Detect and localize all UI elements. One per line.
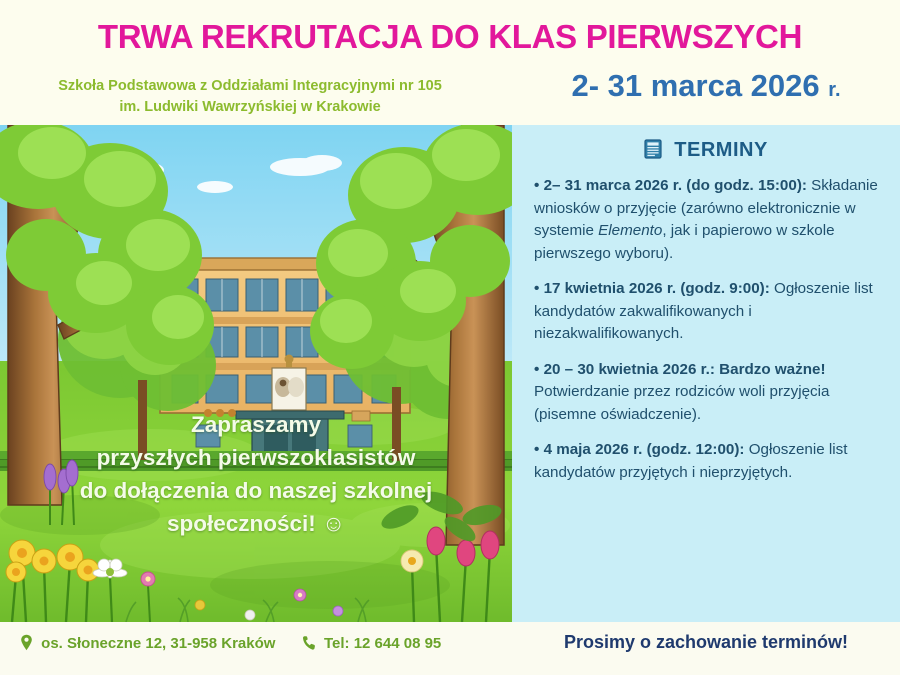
term-date: 2– 31 marca 2026 r. (do godz. 15:00): (544, 177, 807, 194)
document-list-icon (644, 139, 662, 165)
terms-panel: TERMINY • 2– 31 marca 2026 r. (do godz. … (512, 125, 900, 622)
term-bullet: • (534, 361, 539, 378)
recruitment-poster: TRWA REKRUTACJA DO KLAS PIERWSZYCH Szkoł… (0, 0, 900, 675)
term-item: • 4 maja 2026 r. (godz. 12:00): Ogłoszen… (534, 439, 892, 484)
term-item: • 17 kwietnia 2026 r. (godz. 9:00): Ogło… (534, 278, 892, 346)
school-illustration-graphic (0, 125, 512, 622)
terms-list: • 2– 31 marca 2026 r. (do godz. 15:00): … (534, 175, 892, 497)
term-date: 20 – 30 kwietnia 2026 r.: Bardzo ważne! (544, 361, 826, 378)
poster-footer: os. Słoneczne 12, 31-958 Kraków Tel: 12 … (0, 622, 900, 675)
term-item: • 2– 31 marca 2026 r. (do godz. 15:00): … (534, 175, 892, 265)
recruitment-date-range: 2- 31 marca 2026 r. (512, 68, 900, 104)
map-pin-icon (20, 634, 33, 655)
term-description-part-1: Potwierdzanie przez rodziców woli przyję… (534, 383, 829, 423)
terms-heading-label: TERMINY (674, 139, 768, 161)
term-bullet: • (534, 177, 539, 194)
address-text: os. Słoneczne 12, 31-958 Kraków (41, 635, 275, 652)
school-name-line-1: Szkoła Podstawowa z Oddziałami Integracy… (10, 76, 490, 97)
school-name-line-2: im. Ludwiki Wawrzyńskiej w Krakowie (10, 97, 490, 118)
term-description-emphasis: Elemento (598, 222, 662, 239)
phone-text: Tel: 12 644 08 95 (324, 635, 441, 652)
poster-header: TRWA REKRUTACJA DO KLAS PIERWSZYCH Szkoł… (0, 0, 900, 125)
terms-heading: TERMINY (512, 139, 900, 165)
school-name: Szkoła Podstawowa z Oddziałami Integracy… (10, 76, 490, 118)
term-bullet: • (534, 441, 539, 458)
phone-icon (302, 635, 316, 655)
page-title: TRWA REKRUTACJA DO KLAS PIERWSZYCH (0, 18, 900, 56)
contact-info: os. Słoneczne 12, 31-958 Kraków Tel: 12 … (20, 634, 510, 655)
term-date: 17 kwietnia 2026 r. (godz. 9:00): (544, 280, 770, 297)
school-illustration: Zapraszamy przyszłych pierwszoklasistów … (0, 125, 512, 622)
term-bullet: • (534, 280, 539, 297)
deadline-note: Prosimy o zachowanie terminów! (512, 632, 900, 653)
recruitment-date-main: 2- 31 marca 2026 (571, 68, 819, 103)
term-item: • 20 – 30 kwietnia 2026 r.: Bardzo ważne… (534, 359, 892, 427)
term-date: 4 maja 2026 r. (godz. 12:00): (544, 441, 745, 458)
recruitment-date-suffix: r. (828, 79, 840, 101)
